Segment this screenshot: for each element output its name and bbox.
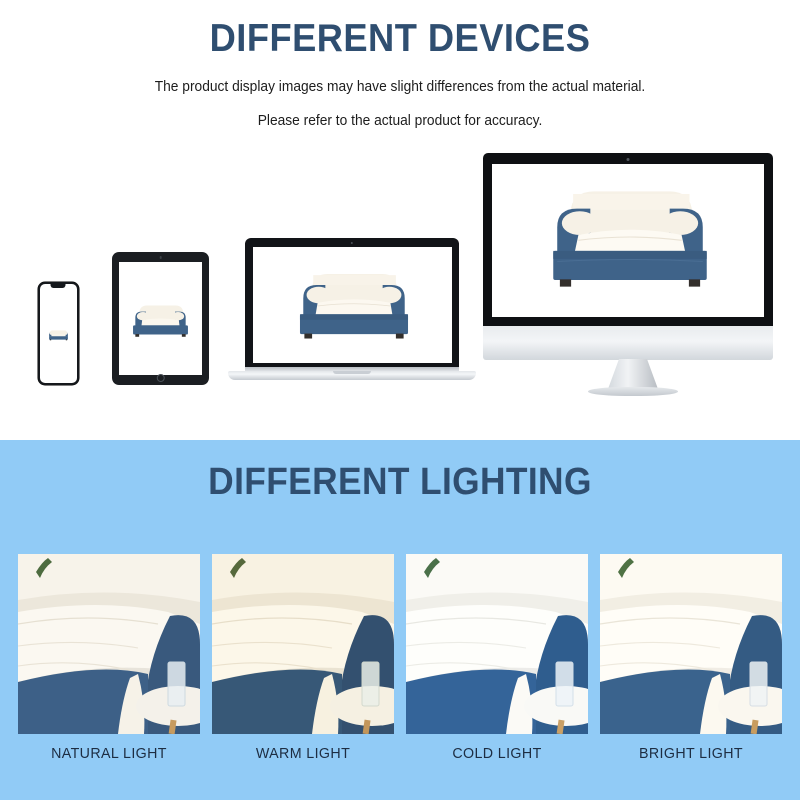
lighting-thumbnail-bright[interactable] [600,554,782,734]
monitor-screen [492,164,764,317]
monitor-bezel [483,153,773,328]
tablet-camera-icon [159,256,162,259]
laptop-trackpad-notch [333,371,371,374]
smartphone-screen [40,284,77,383]
smartphone-notch [51,284,66,287]
different-devices-section: DIFFERENT DEVICES The product display im… [0,0,800,440]
lighting-thumbnail-cold[interactable] [406,554,588,734]
laptop-screen [253,247,452,363]
tablet-mockup [112,252,209,385]
tablet-home-button[interactable] [156,374,165,383]
different-lighting-section: DIFFERENT LIGHTING [0,440,800,800]
product-infographic: DIFFERENT DEVICES The product display im… [0,0,800,800]
sofa-image-monitor [544,178,716,300]
devices-section-title: DIFFERENT DEVICES [28,17,772,61]
desktop-monitor-mockup [483,153,783,398]
devices-subtitle-line-1: The product display images may have slig… [20,79,780,95]
smartphone-mockup [38,282,79,385]
lighting-thumbnail-item[interactable]: WARM LIGHT [212,554,394,734]
lighting-label-warm: WARM LIGHT [217,745,390,762]
monitor-stand-base [588,387,678,396]
sofa-closeup-natural [18,554,200,734]
sofa-closeup-bright [600,554,782,734]
sofa-closeup-warm [212,554,394,734]
laptop-lid [245,238,459,372]
sofa-image-phone [47,327,70,342]
sofa-image-tablet [130,300,191,340]
lighting-label-natural: NATURAL LIGHT [23,745,196,762]
lighting-thumbnail-row: NATURAL LIGHT [18,554,782,734]
monitor-camera-icon [627,158,630,161]
lighting-thumbnail-item[interactable]: COLD LIGHT [406,554,588,734]
lighting-thumbnail-warm[interactable] [212,554,394,734]
monitor-chin [483,326,773,360]
devices-subtitle-line-2: Please refer to the actual product for a… [20,113,780,129]
lighting-label-cold: COLD LIGHT [411,745,584,762]
lighting-thumbnail-item[interactable]: BRIGHT LIGHT [600,554,782,734]
lighting-label-bright: BRIGHT LIGHT [605,745,778,762]
lighting-section-title: DIFFERENT LIGHTING [28,461,772,504]
lighting-thumbnail-item[interactable]: NATURAL LIGHT [18,554,200,734]
laptop-mockup [228,238,476,390]
sofa-image-laptop [293,263,415,349]
monitor-stand-neck [608,359,658,389]
laptop-camera-icon [351,242,353,244]
lighting-thumbnail-natural[interactable] [18,554,200,734]
sofa-closeup-cold [406,554,588,734]
tablet-screen [119,262,202,375]
